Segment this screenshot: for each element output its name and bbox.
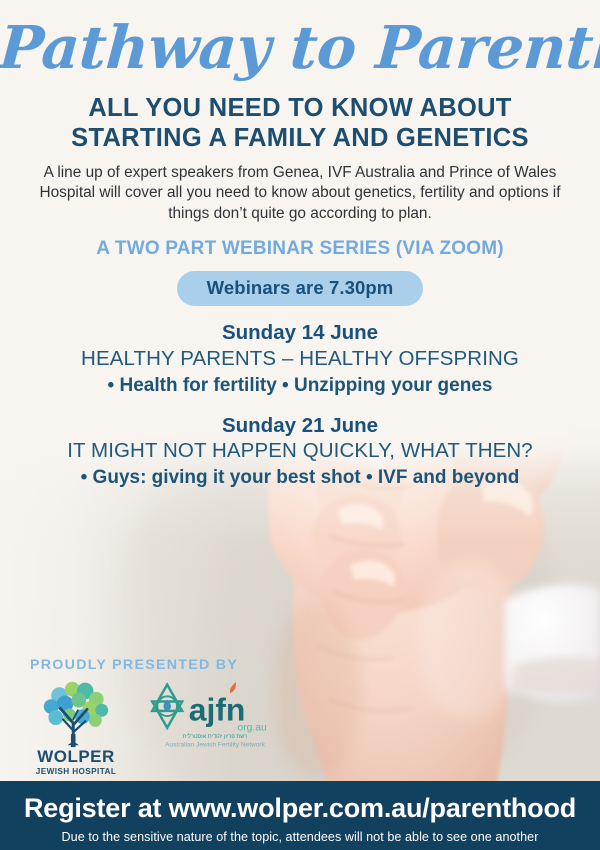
- session-1-topics: • Health for fertility • Unzipping your …: [0, 373, 600, 398]
- ajfn-logo[interactable]: ajfn org.au רשת פריון יהודית אוסטרלית Au…: [140, 679, 290, 748]
- webinar-time-badge: Webinars are 7.30pm: [177, 271, 424, 306]
- headline-line-2: STARTING A FAMILY AND GENETICS: [0, 124, 600, 154]
- tree-icon: [44, 682, 108, 747]
- page-title: Pathway to Parenthood: [0, 0, 600, 78]
- ajfn-tagline: Australian Jewish Fertility Network: [165, 742, 265, 749]
- session-1-title: HEALTHY PARENTS – HEALTHY OFFSPRING: [0, 346, 600, 373]
- footer-band: Register at www.wolper.com.au/parenthood…: [0, 781, 600, 850]
- time-pill-container: Webinars are 7.30pm: [0, 271, 600, 306]
- wolper-subtitle: JEWISH HOSPITAL: [30, 767, 122, 776]
- presented-by-label: PROUDLY PRESENTED BY: [30, 657, 290, 673]
- session-2-topics: • Guys: giving it your best shot • IVF a…: [0, 465, 600, 490]
- ajfn-hebrew-text: רשת פריון יהודית אוסטרלית: [183, 733, 248, 740]
- webinar-series-label: A TWO PART WEBINAR SERIES (VIA ZOOM): [0, 238, 600, 260]
- ajfn-domain: org.au: [238, 723, 267, 734]
- description-text: A line up of expert speakers from Genea,…: [35, 163, 565, 224]
- session-2-title: IT MIGHT NOT HAPPEN QUICKLY, WHAT THEN?: [0, 438, 600, 465]
- headline-line-1: ALL YOU NEED TO KNOW ABOUT: [0, 94, 600, 124]
- poster: Pathway to Parenthood ALL YOU NEED TO KN…: [0, 0, 600, 850]
- sponsors-section: PROUDLY PRESENTED BY: [30, 657, 290, 776]
- session-1: Sunday 14 June HEALTHY PARENTS – HEALTHY…: [0, 320, 600, 397]
- footer-note: Due to the sensitive nature of the topic…: [0, 824, 600, 844]
- wolper-name: WOLPER: [30, 748, 122, 766]
- wolper-jewish-hospital-logo[interactable]: [30, 679, 122, 754]
- session-2-date: Sunday 21 June: [0, 413, 600, 439]
- register-text[interactable]: Register at www.wolper.com.au/parenthood: [0, 781, 600, 824]
- poster-content: Pathway to Parenthood ALL YOU NEED TO KN…: [0, 0, 600, 490]
- session-2: Sunday 21 June IT MIGHT NOT HAPPEN QUICK…: [0, 413, 600, 490]
- wolper-wordmark: WOLPERJEWISH HOSPITAL: [30, 748, 122, 776]
- sponsor-logos: WOLPERJEWISH HOSPITAL ajfn org.au רשת פר…: [30, 679, 290, 776]
- headline: ALL YOU NEED TO KNOW ABOUT STARTING A FA…: [0, 94, 600, 154]
- session-1-date: Sunday 14 June: [0, 320, 600, 346]
